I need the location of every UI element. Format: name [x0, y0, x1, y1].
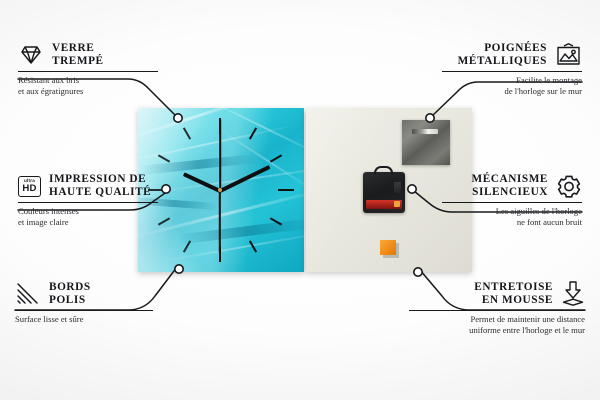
- feature-poignees-metalliques: POIGNÉES MÉTALLIQUES Facilite le montage…: [442, 42, 582, 96]
- feature-title-line1: ENTRETOISE: [474, 281, 553, 294]
- feature-verre-trempe: VERRE TREMPÉ Résistant aux bris et aux é…: [18, 42, 158, 96]
- callout-dot-verre-trempe: [174, 114, 182, 122]
- arrow-down-layers-icon: [561, 281, 585, 307]
- infographic-canvas: VERRE TREMPÉ Résistant aux bris et aux é…: [0, 0, 600, 400]
- diamond-icon: [18, 44, 44, 66]
- feature-title-line1: MÉCANISME: [472, 173, 549, 186]
- feature-sub-line1: Les aiguilles de l'horloge: [442, 206, 582, 216]
- feature-title-line2: SILENCIEUX: [472, 186, 549, 199]
- feature-title-line2: POLIS: [49, 294, 91, 307]
- feature-sub-line1: Permet de maintenir une distance: [409, 314, 585, 324]
- feature-sub-line2: et image claire: [18, 217, 158, 227]
- feature-sub-line1: Facilite le montage: [442, 75, 582, 85]
- gear-icon: [556, 174, 582, 199]
- callout-dot-entretoise: [414, 268, 422, 276]
- feature-sub-line1: Couleurs intenses: [18, 206, 158, 216]
- feature-rule: [442, 202, 582, 203]
- feature-title-line1: IMPRESSION DE: [49, 173, 151, 186]
- callout-dot-poignees: [426, 114, 434, 122]
- callout-dot-mecanisme: [408, 185, 416, 193]
- feature-rule: [18, 71, 158, 72]
- callout-dot-bords-polis: [175, 265, 183, 273]
- feature-title-line2: HAUTE QUALITÉ: [49, 186, 151, 199]
- feature-rule: [15, 310, 153, 311]
- feature-rule: [442, 71, 582, 72]
- feature-title-line1: VERRE: [52, 42, 104, 55]
- feature-sub-line2: et aux égratignures: [18, 86, 158, 96]
- feature-bords-polis: BORDS POLIS Surface lisse et sûre: [15, 281, 155, 325]
- feature-mecanisme-silencieux: MÉCANISME SILENCIEUX Les aiguilles de l'…: [442, 173, 582, 227]
- feature-rule: [18, 202, 158, 203]
- hanging-frame-icon: [555, 43, 582, 67]
- feature-sub-line2: ne font aucun bruit: [442, 217, 582, 227]
- feature-title-line2: EN MOUSSE: [474, 294, 553, 307]
- feature-sub-line1: Surface lisse et sûre: [15, 314, 155, 324]
- feature-sub-line2: de l'horloge sur le mur: [442, 86, 582, 96]
- callout-dot-impression: [162, 185, 170, 193]
- feature-title-line1: POIGNÉES: [458, 42, 547, 55]
- feature-title-line2: MÉTALLIQUES: [458, 55, 547, 68]
- feature-sub-line1: Résistant aux bris: [18, 75, 158, 85]
- hd-badge-large-text: HD: [22, 184, 36, 194]
- feature-title-line1: BORDS: [49, 281, 91, 294]
- feature-impression-haute-qualite: ultra HD IMPRESSION DE HAUTE QUALITÉ Cou…: [18, 173, 158, 227]
- feature-title-line2: TREMPÉ: [52, 55, 104, 68]
- diagonal-lines-icon: [15, 282, 41, 306]
- feature-rule: [409, 310, 585, 311]
- feature-sub-line2: uniforme entre l'horloge et le mur: [409, 325, 585, 335]
- ultra-hd-badge-icon: ultra HD: [18, 176, 41, 197]
- feature-entretoise-en-mousse: ENTRETOISE EN MOUSSE Permet de maintenir…: [409, 281, 585, 335]
